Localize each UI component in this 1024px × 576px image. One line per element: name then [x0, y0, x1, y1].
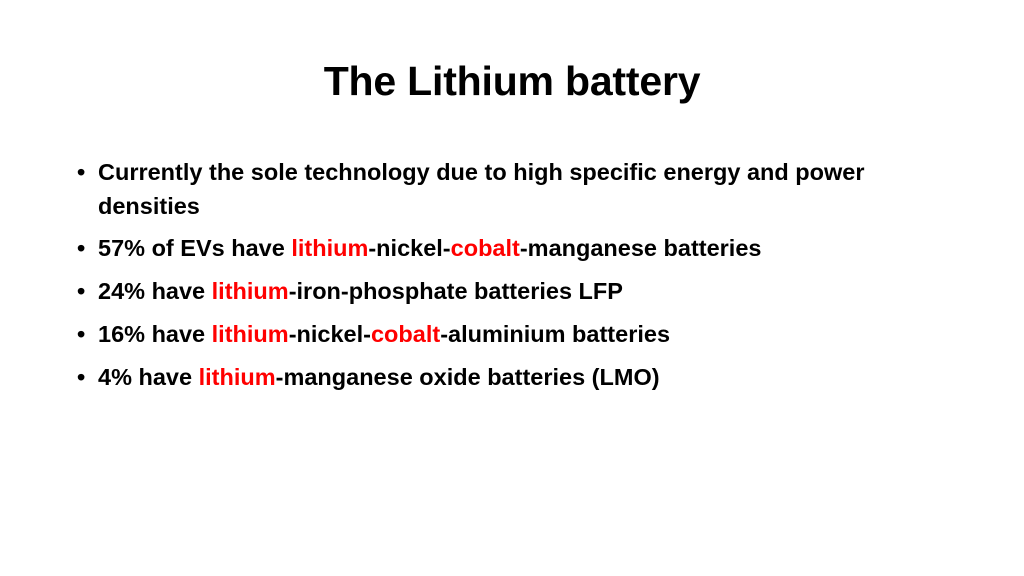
- text-run: 16% have: [98, 321, 212, 347]
- page-title: The Lithium battery: [0, 56, 1024, 106]
- highlighted-term: lithium: [212, 278, 289, 304]
- text-run: 24% have: [98, 278, 212, 304]
- highlighted-term: lithium: [199, 364, 276, 390]
- text-run: -manganese batteries: [520, 235, 762, 261]
- text-run: 4% have: [98, 364, 199, 390]
- text-run: -iron-phosphate batteries LFP: [289, 278, 623, 304]
- highlighted-term: cobalt: [451, 235, 520, 261]
- text-run: -aluminium batteries: [440, 321, 670, 347]
- bullet-point-icon: •: [77, 360, 85, 394]
- list-item-text: 4% have lithium-manganese oxide batterie…: [98, 360, 972, 394]
- list-item: •Currently the sole technology due to hi…: [72, 155, 972, 223]
- list-item: •16% have lithium-nickel-cobalt-aluminiu…: [72, 317, 972, 351]
- list-item: •4% have lithium-manganese oxide batteri…: [72, 360, 972, 394]
- list-item-text: 24% have lithium-iron-phosphate batterie…: [98, 274, 972, 308]
- list-item-text: 16% have lithium-nickel-cobalt-aluminium…: [98, 317, 972, 351]
- text-run: Currently the sole technology due to hig…: [98, 159, 864, 219]
- list-item-text: 57% of EVs have lithium-nickel-cobalt-ma…: [98, 231, 972, 265]
- text-run: -nickel-: [289, 321, 371, 347]
- highlighted-term: lithium: [291, 235, 368, 261]
- bullet-point-icon: •: [77, 155, 85, 189]
- text-run: 57% of EVs have: [98, 235, 291, 261]
- bullet-list: •Currently the sole technology due to hi…: [72, 155, 972, 403]
- highlighted-term: cobalt: [371, 321, 440, 347]
- text-run: -nickel-: [368, 235, 450, 261]
- bullet-point-icon: •: [77, 231, 85, 265]
- highlighted-term: lithium: [212, 321, 289, 347]
- text-run: -manganese oxide batteries (LMO): [276, 364, 660, 390]
- presentation-slide: The Lithium battery •Currently the sole …: [0, 0, 1024, 576]
- list-item-text: Currently the sole technology due to hig…: [98, 155, 972, 223]
- list-item: •57% of EVs have lithium-nickel-cobalt-m…: [72, 231, 972, 265]
- list-item: •24% have lithium-iron-phosphate batteri…: [72, 274, 972, 308]
- bullet-point-icon: •: [77, 317, 85, 351]
- bullet-point-icon: •: [77, 274, 85, 308]
